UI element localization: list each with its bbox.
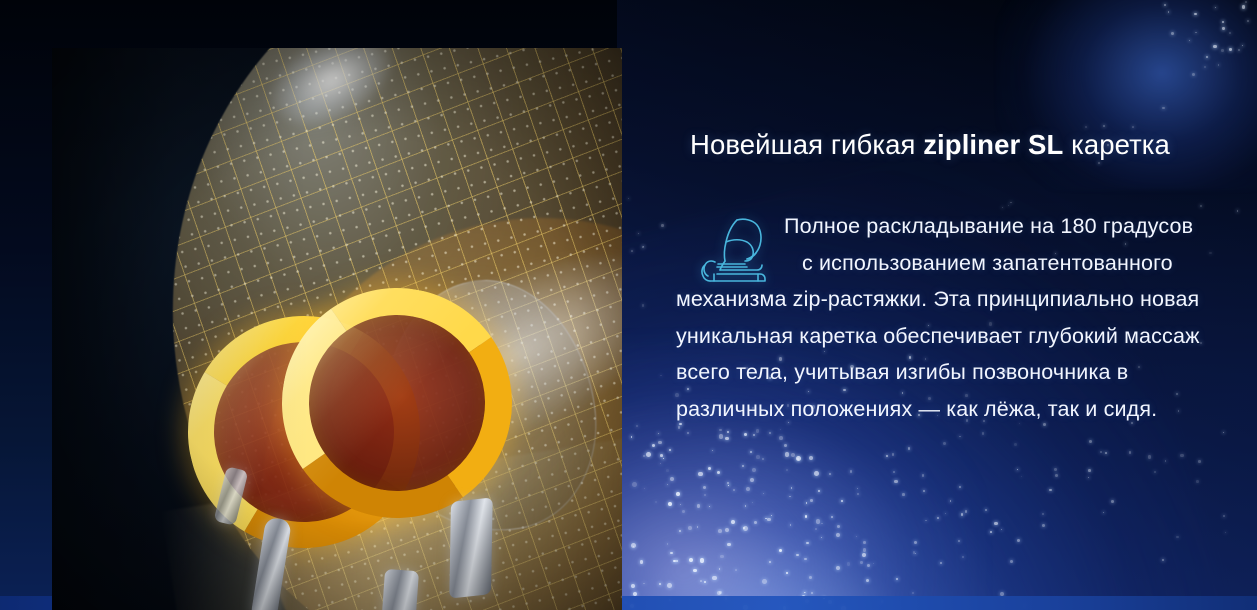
page-title-prefix: Новейшая гибкая	[690, 129, 923, 160]
feature-description: Полное раскладывание на 180 градусов с и…	[676, 208, 1228, 427]
page-title-brand: zipliner SL	[923, 129, 1063, 160]
description-line-5: всего тела, учитывая изгибы позвоночника…	[676, 354, 1228, 391]
description-line-4: уникальная каретка обеспечивает глубокий…	[676, 318, 1228, 355]
slide-root: Новейшая гибкая zipliner SL каретка	[0, 0, 1257, 610]
product-image-vignette	[52, 48, 622, 610]
massage-chair-icon	[690, 212, 778, 290]
description-line-6: различных положениях — как лёжа, так и с…	[676, 391, 1228, 428]
content-column: Новейшая гибкая zipliner SL каретка	[676, 0, 1232, 610]
page-title: Новейшая гибкая zipliner SL каретка	[690, 128, 1232, 161]
product-image	[52, 48, 622, 610]
page-title-suffix: каретка	[1063, 129, 1170, 160]
left-edge-shade	[0, 0, 54, 610]
